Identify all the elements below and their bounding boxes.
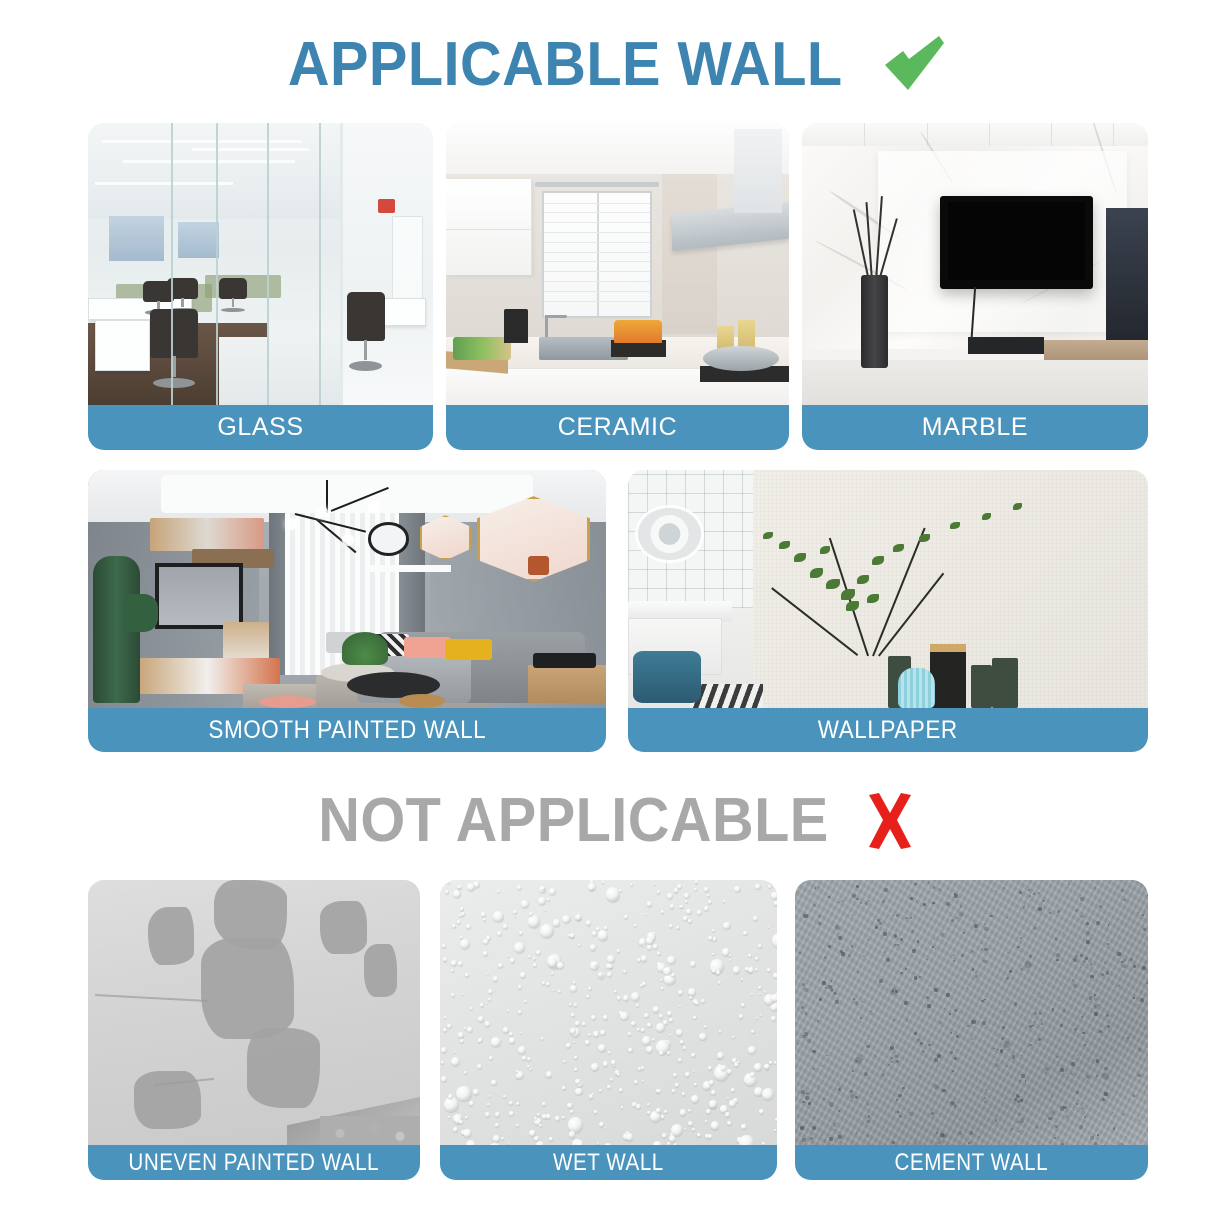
card-label: CERAMIC	[558, 415, 677, 440]
green-check-icon	[881, 34, 947, 96]
card-label: WET WALL	[553, 1151, 664, 1175]
card-label-bar: SMOOTH PAINTED WALL	[88, 708, 606, 752]
card-glass[interactable]: GLASS	[88, 123, 433, 450]
red-cross-icon	[865, 793, 915, 849]
card-smooth-painted-wall[interactable]: SMOOTH PAINTED WALL	[88, 470, 606, 752]
card-label: GLASS	[217, 415, 303, 440]
marble-photo	[802, 123, 1148, 405]
card-label: WALLPAPER	[818, 718, 958, 743]
card-label-bar: CEMENT WALL	[795, 1145, 1148, 1180]
card-ceramic[interactable]: CERAMIC	[446, 123, 789, 450]
glass-photo	[88, 123, 433, 405]
wet-wall-photo	[440, 880, 777, 1145]
card-label-bar: UNEVEN PAINTED WALL	[88, 1145, 420, 1180]
card-label: SMOOTH PAINTED WALL	[208, 718, 486, 743]
card-marble[interactable]: MARBLE	[802, 123, 1148, 450]
card-uneven-painted-wall[interactable]: UNEVEN PAINTED WALL	[88, 880, 420, 1180]
smooth-painted-wall-photo	[88, 470, 606, 708]
card-label-bar: MARBLE	[802, 405, 1148, 450]
card-label: MARBLE	[922, 415, 1028, 440]
card-label: UNEVEN PAINTED WALL	[129, 1151, 380, 1175]
applicable-title: APPLICABLE WALL	[288, 34, 843, 96]
infographic-page: APPLICABLE WALL	[0, 0, 1214, 1214]
card-label-bar: CERAMIC	[446, 405, 789, 450]
card-wallpaper[interactable]: WALLPAPER	[628, 470, 1148, 752]
not-applicable-heading: NOT APPLICABLE	[0, 782, 1214, 860]
cement-wall-photo	[795, 880, 1148, 1145]
card-label-bar: WALLPAPER	[628, 708, 1148, 752]
not-applicable-title: NOT APPLICABLE	[318, 790, 829, 852]
wallpaper-photo	[628, 470, 1148, 708]
card-label-bar: WET WALL	[440, 1145, 777, 1180]
card-label-bar: GLASS	[88, 405, 433, 450]
card-cement-wall[interactable]: CEMENT WALL	[795, 880, 1148, 1180]
card-wet-wall[interactable]: WET WALL	[440, 880, 777, 1180]
card-label: CEMENT WALL	[895, 1151, 1049, 1175]
uneven-painted-wall-photo	[88, 880, 420, 1145]
ceramic-photo	[446, 123, 789, 405]
applicable-wall-heading: APPLICABLE WALL	[0, 24, 1214, 106]
